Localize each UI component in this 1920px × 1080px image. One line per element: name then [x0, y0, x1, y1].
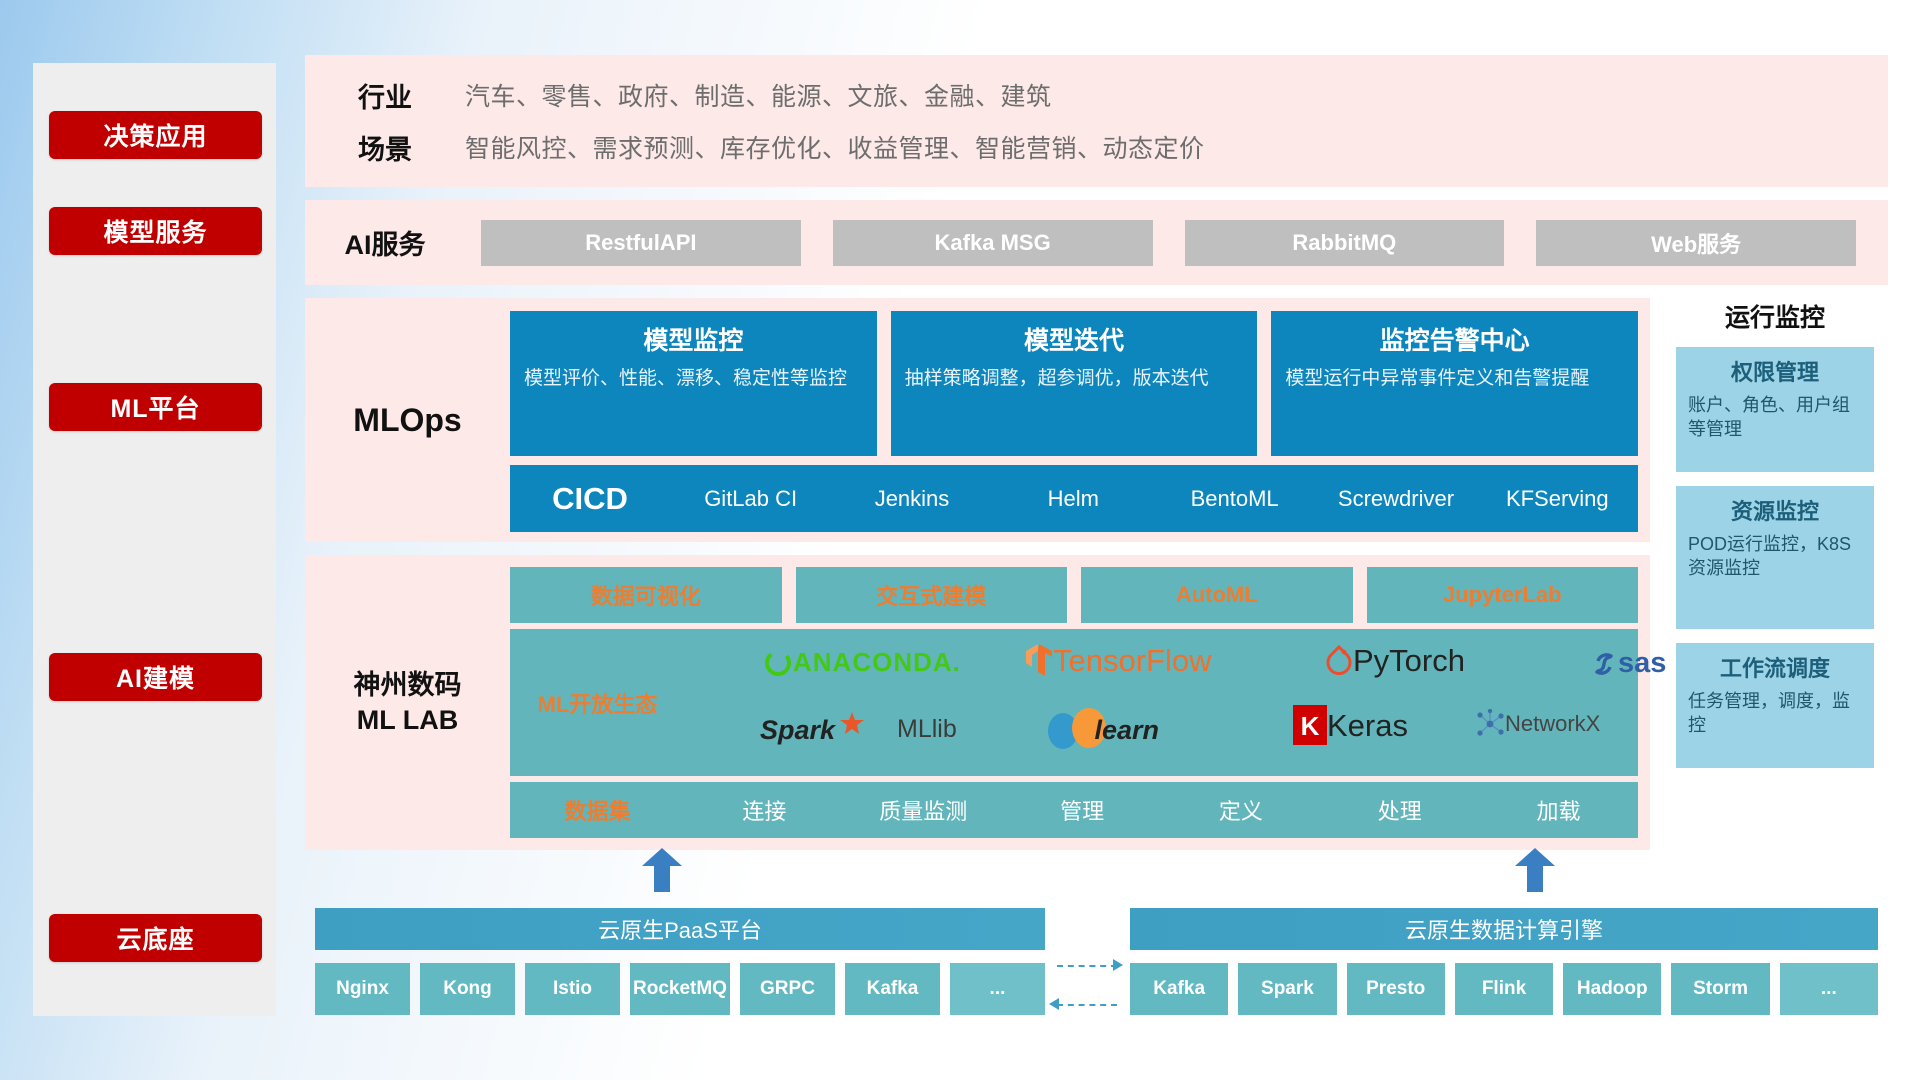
- cicd-bar: CICD GitLab CI Jenkins Helm BentoML Scre…: [510, 465, 1638, 532]
- connector-arrow-right: [1113, 959, 1123, 971]
- cloud-base-area: 云原生PaaS平台 Nginx Kong Istio RocketMQ GRPC…: [305, 880, 1888, 1040]
- mlops-content: 模型监控 模型评价、性能、漂移、稳定性等监控 模型迭代 抽样策略调整，超参调优，…: [510, 298, 1650, 542]
- ml-lab-label: 神州数码 ML LAB: [305, 555, 510, 850]
- networkx-icon: [1475, 709, 1505, 739]
- cicd-item-list: GitLab CI Jenkins Helm BentoML Screwdriv…: [670, 487, 1638, 511]
- ai-service-label: AI服务: [305, 223, 465, 262]
- left-rail: 决策应用 模型服务 ML平台 AI建模 云底座: [33, 63, 276, 1016]
- sas-logo: sas: [1590, 647, 1666, 680]
- lab-tool-interactive-modeling[interactable]: 交互式建模: [796, 567, 1068, 623]
- mlops-card-alert-center[interactable]: 监控告警中心 模型运行中异常事件定义和告警提醒: [1271, 311, 1638, 456]
- card-title: 模型迭代: [905, 321, 1244, 357]
- tensorflow-icon: [1025, 643, 1053, 677]
- compute-chip-spark[interactable]: Spark: [1238, 963, 1336, 1015]
- service-chip-restfulapi[interactable]: RestfulAPI: [481, 220, 801, 266]
- connector-line-bottom: [1057, 1004, 1117, 1006]
- cicd-item-jenkins[interactable]: Jenkins: [831, 487, 992, 511]
- networkx-label: NetworkX: [1505, 711, 1600, 736]
- industry-row: 行业 汽车、零售、政府、制造、能源、文旅、金融、建筑: [305, 69, 1888, 121]
- scenario-label: 场景: [305, 128, 465, 167]
- rail-item-ai-modeling[interactable]: AI建模: [49, 653, 262, 701]
- connector-line-top: [1057, 965, 1117, 967]
- scenario-row: 场景 智能风控、需求预测、库存优化、收益管理、智能营销、动态定价: [305, 121, 1888, 173]
- ml-ecosystem-label: ML开放生态: [510, 687, 685, 719]
- ml-ecosystem-logos: ANACONDA. TensorFlow: [685, 629, 1638, 776]
- paas-header: 云原生PaaS平台: [315, 908, 1045, 950]
- ai-service-chip-list: RestfulAPI Kafka MSG RabbitMQ Web服务: [465, 220, 1888, 266]
- monitor-card-resource[interactable]: 资源监控 POD运行监控，K8S资源监控: [1676, 486, 1874, 629]
- ml-ecosystem-strip: ML开放生态 ANACONDA.: [510, 629, 1638, 776]
- cicd-item-gitlab-ci[interactable]: GitLab CI: [670, 487, 831, 511]
- dataset-label: 数据集: [510, 794, 685, 826]
- card-title: 模型监控: [524, 321, 863, 357]
- dataset-item-quality[interactable]: 质量监测: [844, 794, 1003, 826]
- paas-chip-kong[interactable]: Kong: [420, 963, 515, 1015]
- service-chip-web[interactable]: Web服务: [1536, 220, 1856, 266]
- card-desc: POD运行监控，K8S资源监控: [1688, 532, 1862, 580]
- band-separator: [305, 285, 1888, 298]
- ml-lab-label-line2: ML LAB: [357, 703, 459, 738]
- service-chip-rabbitmq[interactable]: RabbitMQ: [1185, 220, 1505, 266]
- compute-chip-storm[interactable]: Storm: [1671, 963, 1769, 1015]
- keras-icon: K: [1293, 705, 1327, 745]
- anaconda-label: ANACONDA.: [793, 647, 961, 677]
- paas-chip-istio[interactable]: Istio: [525, 963, 620, 1015]
- sas-icon: [1590, 650, 1618, 678]
- mlops-card-model-monitoring[interactable]: 模型监控 模型评价、性能、漂移、稳定性等监控: [510, 311, 877, 456]
- card-title: 工作流调度: [1688, 651, 1862, 683]
- scikit-learn-label: learn: [1095, 715, 1160, 745]
- application-band: 行业 汽车、零售、政府、制造、能源、文旅、金融、建筑 场景 智能风控、需求预测、…: [305, 55, 1888, 187]
- dataset-item-define[interactable]: 定义: [1161, 794, 1320, 826]
- dataset-strip: 数据集 连接 质量监测 管理 定义 处理 加载: [510, 782, 1638, 838]
- lab-tool-jupyterlab[interactable]: JupyterLab: [1367, 567, 1639, 623]
- paas-chip-kafka[interactable]: Kafka: [845, 963, 940, 1015]
- mlops-card-model-iteration[interactable]: 模型迭代 抽样策略调整，超参调优，版本迭代: [891, 311, 1258, 456]
- service-chip-kafka-msg[interactable]: Kafka MSG: [833, 220, 1153, 266]
- mlops-band: MLOps 模型监控 模型评价、性能、漂移、稳定性等监控 模型迭代 抽样策略调整…: [305, 298, 1650, 542]
- spark-label: Spark: [760, 715, 835, 745]
- ai-service-band: AI服务 RestfulAPI Kafka MSG RabbitMQ Web服务: [305, 200, 1888, 285]
- svg-text:K: K: [1301, 711, 1320, 741]
- card-desc: 抽样策略调整，超参调优，版本迭代: [905, 366, 1244, 391]
- card-title: 资源监控: [1688, 494, 1862, 526]
- ml-lab-band: 神州数码 ML LAB 数据可视化 交互式建模 AutoML JupyterLa…: [305, 555, 1650, 850]
- connector-arrow-left: [1049, 998, 1059, 1010]
- networkx-logo: NetworkX: [1475, 709, 1600, 739]
- paas-chip-nginx[interactable]: Nginx: [315, 963, 410, 1015]
- lab-tool-list: 数据可视化 交互式建模 AutoML JupyterLab: [510, 567, 1638, 623]
- tensorflow-label: TensorFlow: [1053, 643, 1212, 678]
- dataset-item-connect[interactable]: 连接: [685, 794, 844, 826]
- cicd-item-screwdriver[interactable]: Screwdriver: [1315, 487, 1476, 511]
- anaconda-icon: [763, 648, 793, 678]
- keras-label: Keras: [1327, 708, 1408, 743]
- lab-tool-automl[interactable]: AutoML: [1081, 567, 1353, 623]
- compute-engine-header: 云原生数据计算引擎: [1130, 908, 1878, 950]
- anaconda-logo: ANACONDA.: [763, 647, 961, 678]
- lab-tool-data-visualization[interactable]: 数据可视化: [510, 567, 782, 623]
- paas-group: 云原生PaaS平台 Nginx Kong Istio RocketMQ GRPC…: [315, 908, 1045, 1015]
- paas-chip-more[interactable]: ...: [950, 963, 1045, 1015]
- dataset-item-load[interactable]: 加载: [1479, 794, 1638, 826]
- mllib-label: MLlib: [897, 715, 957, 743]
- dataset-item-manage[interactable]: 管理: [1003, 794, 1162, 826]
- keras-logo: K Keras: [1293, 705, 1408, 745]
- sas-label: sas: [1618, 647, 1666, 679]
- paas-chip-rocketmq[interactable]: RocketMQ: [630, 963, 730, 1015]
- compute-chip-kafka[interactable]: Kafka: [1130, 963, 1228, 1015]
- diagram-canvas: 决策应用 模型服务 ML平台 AI建模 云底座 行业 汽车、零售、政府、制造、能…: [0, 0, 1920, 1080]
- dataset-item-list: 连接 质量监测 管理 定义 处理 加载: [685, 794, 1638, 826]
- band-separator: [305, 542, 1888, 555]
- industry-value: 汽车、零售、政府、制造、能源、文旅、金融、建筑: [465, 77, 1052, 113]
- card-desc: 账户、角色、用户组等管理: [1688, 393, 1862, 441]
- mlops-label: MLOps: [305, 298, 510, 542]
- compute-engine-group: 云原生数据计算引擎 Kafka Spark Presto Flink Hadoo…: [1130, 908, 1878, 1015]
- cicd-title: CICD: [510, 481, 670, 517]
- compute-chip-hadoop[interactable]: Hadoop: [1563, 963, 1661, 1015]
- cicd-item-helm[interactable]: Helm: [993, 487, 1154, 511]
- scikit-learn-logo: learn: [1043, 707, 1137, 751]
- scenario-value: 智能风控、需求预测、库存优化、收益管理、智能营销、动态定价: [465, 129, 1205, 165]
- pytorch-label: PyTorch: [1353, 643, 1465, 678]
- pytorch-logo: PyTorch: [1325, 643, 1465, 679]
- dataset-item-process[interactable]: 处理: [1320, 794, 1479, 826]
- paas-chip-grpc[interactable]: GRPC: [740, 963, 835, 1015]
- spark-logo: Spark: [760, 711, 865, 746]
- tensorflow-logo: TensorFlow: [1025, 643, 1212, 679]
- compute-chip-flink[interactable]: Flink: [1455, 963, 1553, 1015]
- ml-lab-content: 数据可视化 交互式建模 AutoML JupyterLab ML开放生态 ANA…: [510, 555, 1650, 850]
- card-desc: 任务管理，调度，监控: [1688, 689, 1862, 737]
- card-desc: 模型运行中异常事件定义和告警提醒: [1285, 366, 1624, 391]
- compute-chip-list: Kafka Spark Presto Flink Hadoop Storm ..…: [1130, 963, 1878, 1015]
- rail-item-decision-app[interactable]: 决策应用: [49, 111, 262, 159]
- main-column: 行业 汽车、零售、政府、制造、能源、文旅、金融、建筑 场景 智能风控、需求预测、…: [305, 55, 1888, 850]
- cicd-item-kfserving[interactable]: KFServing: [1477, 487, 1638, 511]
- runtime-monitoring-column: 运行监控 权限管理 账户、角色、用户组等管理 资源监控 POD运行监控，K8S资…: [1662, 285, 1888, 782]
- monitor-card-permission[interactable]: 权限管理 账户、角色、用户组等管理: [1676, 347, 1874, 472]
- cicd-item-bentoml[interactable]: BentoML: [1154, 487, 1315, 511]
- rail-item-ml-platform[interactable]: ML平台: [49, 383, 262, 431]
- card-title: 监控告警中心: [1285, 321, 1624, 357]
- paas-chip-list: Nginx Kong Istio RocketMQ GRPC Kafka ...: [315, 963, 1045, 1015]
- runtime-monitoring-title: 运行监控: [1662, 285, 1888, 347]
- rail-item-model-service[interactable]: 模型服务: [49, 207, 262, 255]
- mllib-logo: MLlib: [897, 715, 957, 744]
- mlops-card-list: 模型监控 模型评价、性能、漂移、稳定性等监控 模型迭代 抽样策略调整，超参调优，…: [510, 311, 1638, 456]
- industry-label: 行业: [305, 76, 465, 115]
- band-separator: [305, 187, 1888, 200]
- monitor-card-workflow[interactable]: 工作流调度 任务管理，调度，监控: [1676, 643, 1874, 768]
- spark-star-icon: [839, 711, 865, 737]
- card-title: 权限管理: [1688, 355, 1862, 387]
- ml-lab-label-line1: 神州数码: [354, 668, 462, 703]
- compute-chip-more[interactable]: ...: [1780, 963, 1878, 1015]
- pytorch-icon: [1325, 644, 1353, 676]
- card-desc: 模型评价、性能、漂移、稳定性等监控: [524, 366, 863, 391]
- rail-item-cloud-base[interactable]: 云底座: [49, 914, 262, 962]
- compute-chip-presto[interactable]: Presto: [1347, 963, 1445, 1015]
